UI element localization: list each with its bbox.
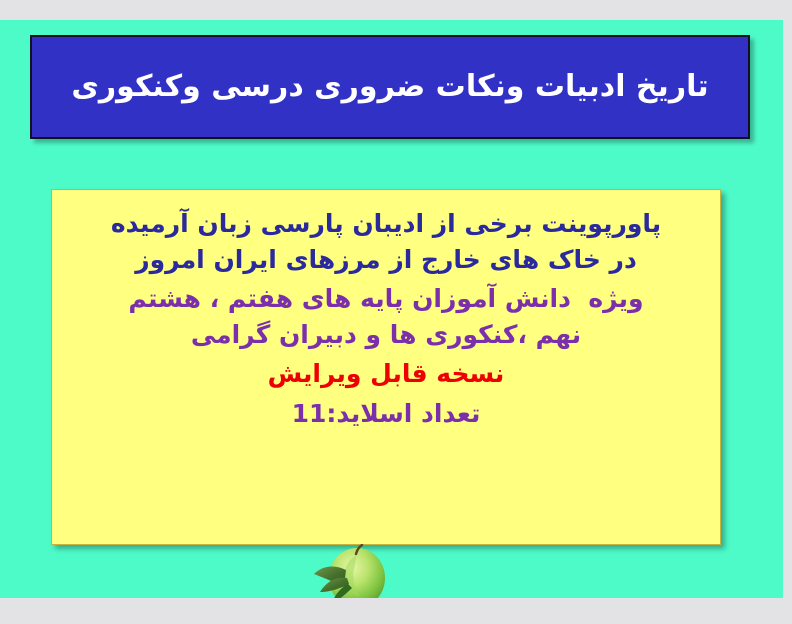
content-line-3: ویژه دانش آموزان پایه های هفتم ، هشتم — [66, 281, 706, 317]
content-line-4: نهم ،کنکوری ها و دبیران گرامی — [66, 317, 706, 353]
green-apple-icon — [304, 544, 396, 598]
content-line-2: در خاک های خارج از مرزهای ایران امروز — [66, 242, 706, 278]
slide-count-line: تعداد اسلاید:11 — [66, 396, 706, 432]
slide-content-box: پاورپوینت برخی از ادیبان پارسی زبان آرمی… — [51, 189, 721, 545]
slide-title-text: تاریخ ادبیات ونکات ضروری درسی وکنکوری — [53, 68, 726, 106]
editable-version-note: نسخه قابل ویرایش — [66, 356, 706, 392]
presentation-slide: تاریخ ادبیات ونکات ضروری درسی وکنکوری پا… — [0, 20, 783, 598]
slide-title-box: تاریخ ادبیات ونکات ضروری درسی وکنکوری — [30, 35, 750, 139]
content-line-1: پاورپوینت برخی از ادیبان پارسی زبان آرمی… — [66, 206, 706, 242]
